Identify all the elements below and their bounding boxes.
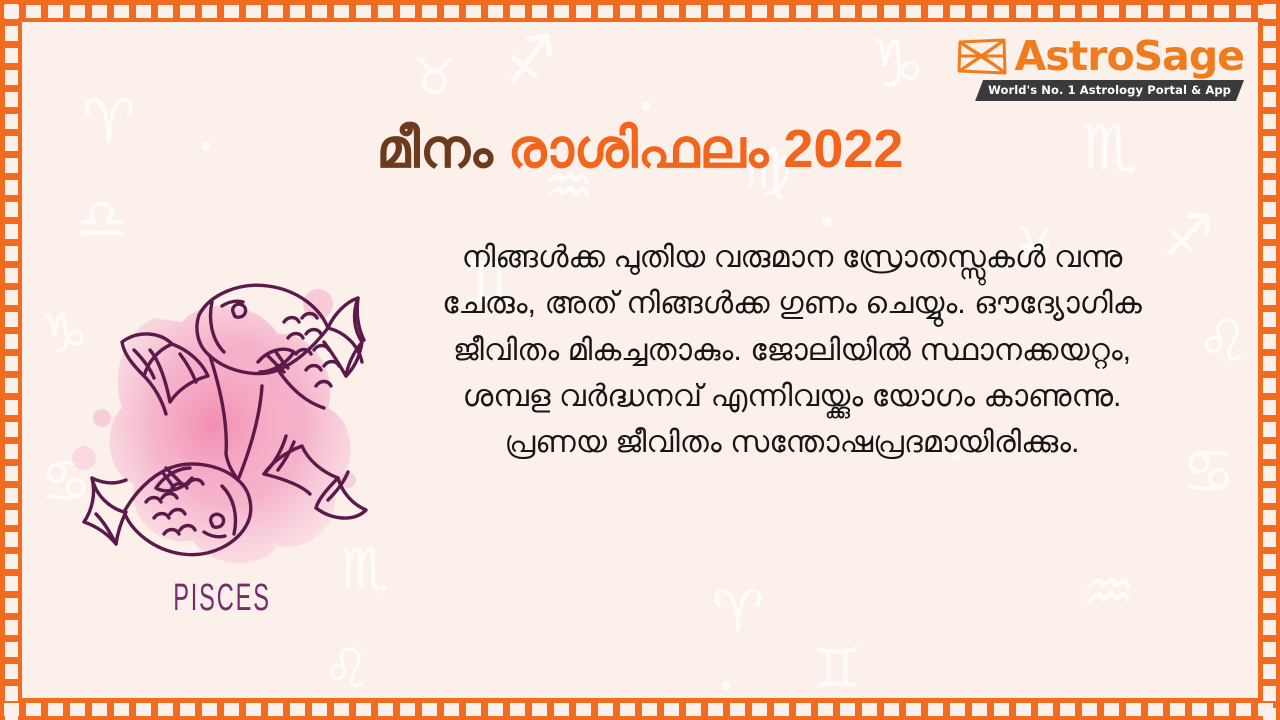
border-dash xyxy=(268,703,283,716)
page-title: മീനം രാശിഫലം 2022 xyxy=(22,120,1258,179)
border-dash xyxy=(444,703,459,716)
border-dash xyxy=(5,488,18,503)
zodiac-watermark-glyph: ♌ xyxy=(322,642,370,696)
border-dash xyxy=(5,158,18,173)
border-dash xyxy=(1263,114,1276,129)
border-dash xyxy=(1263,664,1276,679)
border-dash xyxy=(334,5,349,18)
border-dash xyxy=(950,703,965,716)
border-dash xyxy=(5,114,18,129)
border-dash xyxy=(224,703,239,716)
border-dash xyxy=(488,703,503,716)
page-title-sign: മീനം xyxy=(377,119,493,179)
border-dash xyxy=(136,5,151,18)
watermark-dot xyxy=(822,217,832,227)
border-dash xyxy=(1263,4,1276,19)
border-dash xyxy=(1214,5,1229,18)
border-dash xyxy=(884,703,899,716)
border-dash xyxy=(356,5,371,18)
border-dash xyxy=(5,312,18,327)
border-dash xyxy=(1082,703,1097,716)
border-dash xyxy=(268,5,283,18)
border-dash xyxy=(202,703,217,716)
border-dash xyxy=(1263,334,1276,349)
border-dash xyxy=(5,180,18,195)
border-dash xyxy=(48,5,63,18)
watermark-dot xyxy=(642,102,650,110)
astrosage-logo[interactable]: AstroSage World's No. 1 Astrology Portal… xyxy=(956,36,1244,101)
border-dash xyxy=(5,290,18,305)
logo-word-sage: Sage xyxy=(1134,32,1244,80)
border-dash xyxy=(510,5,525,18)
border-dash xyxy=(664,703,679,716)
border-dash xyxy=(5,532,18,547)
border-band-top xyxy=(0,0,1280,22)
border-dash xyxy=(818,5,833,18)
border-dash xyxy=(532,703,547,716)
border-dash xyxy=(378,703,393,716)
watermark-dot xyxy=(722,682,730,690)
border-dash xyxy=(686,5,701,18)
border-dash xyxy=(1104,703,1119,716)
border-dash xyxy=(158,703,173,716)
border-dash xyxy=(1170,5,1185,18)
border-dash xyxy=(1016,5,1031,18)
border-dash xyxy=(334,703,349,716)
border-dash xyxy=(774,703,789,716)
border-dash xyxy=(884,5,899,18)
border-dash xyxy=(862,5,877,18)
zodiac-watermark-glyph: ♑ xyxy=(865,30,929,100)
border-dash xyxy=(400,5,415,18)
border-dash xyxy=(1263,576,1276,591)
border-dash xyxy=(400,703,415,716)
border-dash xyxy=(224,5,239,18)
border-dash xyxy=(5,510,18,525)
border-dash xyxy=(1148,5,1163,18)
pisces-illustration: PISCES xyxy=(62,222,382,642)
border-dash xyxy=(1263,356,1276,371)
border-dash xyxy=(1263,202,1276,217)
border-dash xyxy=(730,703,745,716)
zodiac-watermark-glyph: ♐ xyxy=(498,26,562,95)
border-dash xyxy=(840,5,855,18)
border-dash xyxy=(708,703,723,716)
astrosage-woven-box-icon xyxy=(956,37,1008,77)
logo-word-astro: Astro xyxy=(1015,32,1134,80)
border-band-bottom xyxy=(0,698,1280,720)
border-dash xyxy=(1263,136,1276,151)
border-dash xyxy=(158,5,173,18)
zodiac-watermark-glyph: ♒ xyxy=(1082,562,1136,622)
border-dash xyxy=(5,136,18,151)
border-dash xyxy=(1263,532,1276,547)
border-dash xyxy=(1263,554,1276,569)
border-dash xyxy=(1263,708,1276,720)
poster-canvas: ♐♑♒♈♎♏♐♊♍♌♋♋♑♏♒♈♊♌♓♉ AstroSage World's N… xyxy=(22,22,1258,698)
border-dash xyxy=(554,703,569,716)
border-dash xyxy=(1263,224,1276,239)
border-dash xyxy=(840,703,855,716)
border-dash xyxy=(1263,290,1276,305)
border-dash xyxy=(972,703,987,716)
border-dash xyxy=(796,703,811,716)
border-dash xyxy=(1236,5,1251,18)
border-dash xyxy=(246,703,261,716)
border-dash xyxy=(1082,5,1097,18)
border-dash xyxy=(862,703,877,716)
border-dash xyxy=(1263,158,1276,173)
border-dash xyxy=(620,703,635,716)
zodiac-watermark-glyph: ♈ xyxy=(712,582,764,640)
border-dash xyxy=(5,466,18,481)
border-dash xyxy=(48,703,63,716)
page-title-rest: രാശിഫലം 2022 xyxy=(508,119,904,179)
border-dash xyxy=(70,703,85,716)
border-dash xyxy=(5,708,18,720)
border-dash xyxy=(664,5,679,18)
border-dash xyxy=(1016,703,1031,716)
border-dash xyxy=(1263,422,1276,437)
border-dash xyxy=(5,576,18,591)
border-dash xyxy=(1263,48,1276,63)
border-dash xyxy=(1170,703,1185,716)
border-dash xyxy=(686,703,701,716)
border-dash xyxy=(5,444,18,459)
border-dash xyxy=(1192,703,1207,716)
border-dash xyxy=(1263,378,1276,393)
border-band-right xyxy=(1258,0,1280,720)
border-dash xyxy=(312,5,327,18)
border-dash xyxy=(906,703,921,716)
border-dash xyxy=(5,246,18,261)
border-dash xyxy=(1263,400,1276,415)
border-dash xyxy=(730,5,745,18)
border-dash xyxy=(180,703,195,716)
border-dash xyxy=(5,26,18,41)
border-dash xyxy=(5,642,18,657)
border-dash xyxy=(1038,703,1053,716)
border-dash xyxy=(114,5,129,18)
border-dash xyxy=(5,4,18,19)
border-dash xyxy=(796,5,811,18)
border-dash xyxy=(576,703,591,716)
horoscope-body-text: നിങ്ങൾക്ക പുതിയ വരുമാന സ്രോതസ്സുകൾ വന്നു… xyxy=(422,234,1162,466)
border-dash xyxy=(928,703,943,716)
border-dash xyxy=(1214,703,1229,716)
border-dash xyxy=(444,5,459,18)
border-dash xyxy=(1263,180,1276,195)
border-dash xyxy=(1263,444,1276,459)
border-dash xyxy=(1192,5,1207,18)
border-dash xyxy=(1263,598,1276,613)
border-dash xyxy=(378,5,393,18)
border-dash xyxy=(642,5,657,18)
border-dash xyxy=(554,5,569,18)
border-dash xyxy=(5,92,18,107)
border-dash xyxy=(1263,312,1276,327)
border-dash xyxy=(1060,703,1075,716)
border-dash xyxy=(752,703,767,716)
border-dash xyxy=(5,202,18,217)
border-dash xyxy=(774,5,789,18)
border-dash xyxy=(1126,5,1141,18)
border-dash xyxy=(1263,620,1276,635)
border-dash xyxy=(92,5,107,18)
border-dash xyxy=(642,703,657,716)
zodiac-watermark-glyph: ♐ xyxy=(1162,207,1214,265)
border-dash xyxy=(1263,488,1276,503)
border-dash xyxy=(488,5,503,18)
border-dash xyxy=(994,703,1009,716)
border-dash xyxy=(5,422,18,437)
border-dash xyxy=(466,5,481,18)
border-dash xyxy=(1263,642,1276,657)
border-dash xyxy=(290,703,305,716)
border-dash xyxy=(1263,686,1276,701)
border-dash xyxy=(1263,510,1276,525)
border-dash xyxy=(1126,703,1141,716)
border-dash xyxy=(1060,5,1075,18)
border-dash xyxy=(576,5,591,18)
zodiac-watermark-glyph: ♌ xyxy=(1197,312,1249,370)
border-dash xyxy=(290,5,305,18)
border-dash xyxy=(1263,26,1276,41)
zodiac-watermark-glyph: ♉ xyxy=(412,52,457,102)
border-dash xyxy=(532,5,547,18)
border-dash xyxy=(928,5,943,18)
border-dash xyxy=(356,703,371,716)
border-dash xyxy=(5,268,18,283)
brand-tagline: World's No. 1 Astrology Portal & App xyxy=(975,80,1244,101)
border-band-left xyxy=(0,0,22,720)
border-dash xyxy=(620,5,635,18)
border-dash xyxy=(906,5,921,18)
logo-wordmark: AstroSage xyxy=(1015,36,1244,77)
border-dash xyxy=(1263,92,1276,107)
zodiac-sign-label: PISCES xyxy=(123,577,321,620)
border-dash xyxy=(246,5,261,18)
border-dash xyxy=(5,400,18,415)
border-dash xyxy=(818,703,833,716)
border-dash xyxy=(950,5,965,18)
border-dash xyxy=(5,48,18,63)
border-dash xyxy=(312,703,327,716)
border-dash xyxy=(1263,70,1276,85)
logo-row: AstroSage xyxy=(956,36,1244,77)
border-dash xyxy=(5,620,18,635)
border-dash xyxy=(5,334,18,349)
border-dash xyxy=(136,703,151,716)
border-dash xyxy=(510,703,525,716)
border-dash xyxy=(92,703,107,716)
zodiac-watermark-glyph: ♊ xyxy=(812,642,862,698)
border-dash xyxy=(5,356,18,371)
border-dash xyxy=(180,5,195,18)
border-dash xyxy=(114,703,129,716)
border-dash xyxy=(972,5,987,18)
border-dash xyxy=(1038,5,1053,18)
border-dash xyxy=(1263,246,1276,261)
border-dash xyxy=(26,703,41,716)
border-dash xyxy=(994,5,1009,18)
border-dash xyxy=(422,703,437,716)
border-dash xyxy=(202,5,217,18)
border-dash xyxy=(1236,703,1251,716)
border-dash xyxy=(1263,268,1276,283)
zodiac-watermark-glyph: ♋ xyxy=(1182,442,1236,502)
border-dash xyxy=(5,70,18,85)
border-dash xyxy=(5,224,18,239)
border-dash xyxy=(5,378,18,393)
border-dash xyxy=(1148,703,1163,716)
border-dash xyxy=(1263,466,1276,481)
border-dash xyxy=(26,5,41,18)
border-dash xyxy=(5,598,18,613)
border-dash xyxy=(70,5,85,18)
border-dash xyxy=(466,703,481,716)
border-dash xyxy=(5,664,18,679)
border-dash xyxy=(752,5,767,18)
border-dash xyxy=(5,554,18,569)
border-dash xyxy=(5,686,18,701)
border-dash xyxy=(708,5,723,18)
border-dash xyxy=(422,5,437,18)
border-dash xyxy=(598,703,613,716)
border-dash xyxy=(598,5,613,18)
border-dash xyxy=(1104,5,1119,18)
